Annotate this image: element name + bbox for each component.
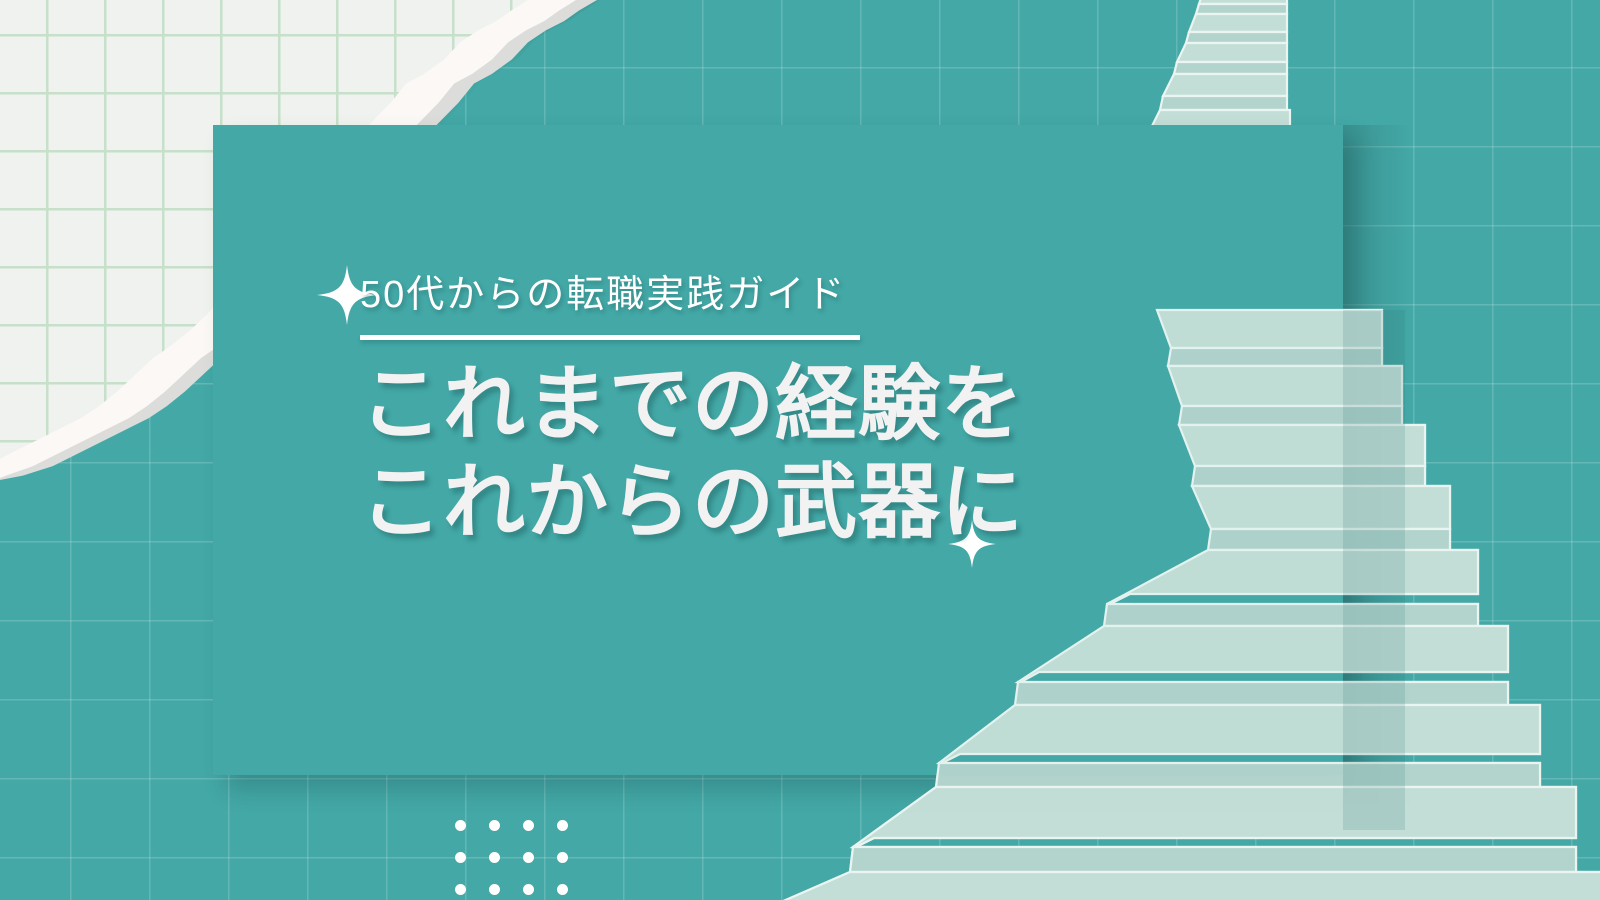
dot xyxy=(557,820,568,831)
dot xyxy=(523,820,534,831)
dot xyxy=(557,852,568,863)
divider-rule xyxy=(360,335,860,340)
dot xyxy=(489,884,500,895)
headline-line-1: これまでの経験を xyxy=(360,356,1220,454)
headline-block: 50代からの転職実践ガイド これまでの経験を これからの武器に xyxy=(360,275,1220,553)
banner-card-surface: 50代からの転職実践ガイド これまでの経験を これからの武器に xyxy=(213,125,1343,775)
headline-line-2: これからの武器に xyxy=(360,454,1220,552)
dot xyxy=(489,852,500,863)
dot xyxy=(557,884,568,895)
banner-canvas: 50代からの転職実践ガイド これまでの経験を これからの武器に xyxy=(0,0,1600,900)
banner-card: 50代からの転職実践ガイド これまでの経験を これからの武器に xyxy=(213,125,1343,775)
kicker-text: 50代からの転職実践ガイド xyxy=(360,275,1220,317)
dot-grid-decoration xyxy=(455,820,568,895)
dot xyxy=(489,820,500,831)
dot xyxy=(523,884,534,895)
page-title: これまでの経験を これからの武器に xyxy=(360,356,1220,553)
dot xyxy=(455,852,466,863)
dot xyxy=(455,884,466,895)
dot xyxy=(455,820,466,831)
dot xyxy=(523,852,534,863)
